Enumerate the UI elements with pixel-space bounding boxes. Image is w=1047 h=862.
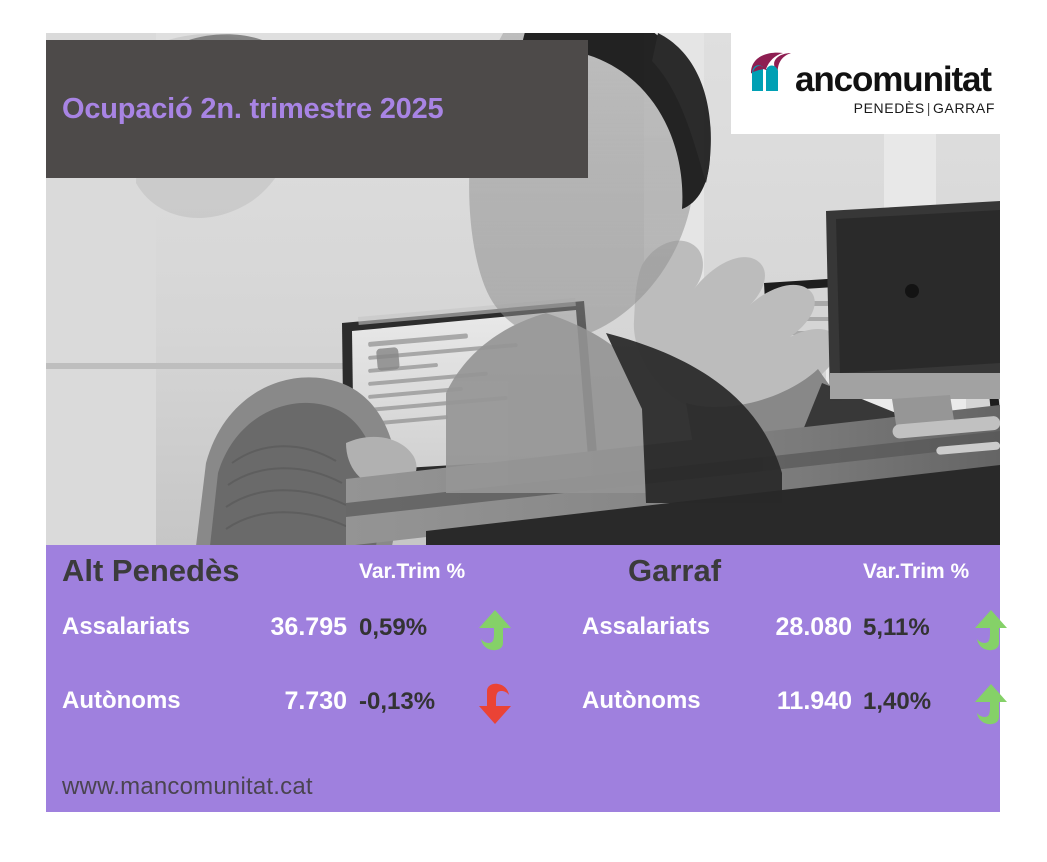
logo-row: ancomunitat: [745, 51, 991, 97]
row-percent: 5,11%: [863, 614, 930, 642]
var-trim-header-garraf: Var.Trim %: [863, 560, 969, 584]
row-value: 28.080: [722, 613, 852, 642]
row-percent: -0,13%: [359, 688, 435, 716]
arrow-down-icon-svg: [478, 683, 512, 725]
page-title: Ocupació 2n. trimestre 2025: [46, 93, 443, 126]
logo-wordmark: ancomunitat: [795, 63, 991, 97]
arrow-up-icon-svg: [974, 609, 1008, 651]
logo-tagline-right: GARRAF: [933, 100, 995, 116]
row-value: 11.940: [722, 687, 852, 716]
title-band: Ocupació 2n. trimestre 2025: [46, 40, 588, 178]
website-url[interactable]: www.mancomunitat.cat: [62, 773, 313, 801]
logo-tagline: PENEDÈS|GARRAF: [854, 100, 1001, 116]
arrow-up-icon: [974, 683, 1008, 725]
arrow-up-icon: [974, 609, 1008, 651]
row-label: Autònoms: [62, 687, 181, 715]
table-row: Assalariats 28.080 5,11%: [582, 613, 997, 653]
logo-tagline-left: PENEDÈS: [854, 100, 925, 116]
region-garraf: Garraf Var.Trim % Assalariats 28.080 5,1…: [566, 545, 1000, 745]
table-row: Autònoms 11.940 1,40%: [582, 687, 997, 727]
arrow-up-icon-svg: [478, 609, 512, 651]
arrow-up-icon: [478, 609, 512, 651]
stats-panel-inner: Alt Penedès Var.Trim % Assalariats 36.79…: [46, 545, 1000, 812]
row-value: 36.795: [212, 613, 347, 642]
table-row: Autònoms 7.730 -0,13%: [62, 687, 552, 727]
row-label: Assalariats: [582, 613, 710, 641]
row-label: Assalariats: [62, 613, 190, 641]
infographic-poster: Ocupació 2n. trimestre 2025 ancomunitat …: [0, 0, 1047, 862]
logo-tagline-separator: |: [925, 100, 933, 116]
row-percent: 1,40%: [863, 688, 931, 716]
row-label: Autònoms: [582, 687, 701, 715]
table-row: Assalariats 36.795 0,59%: [62, 613, 552, 653]
arrow-up-icon-svg: [974, 683, 1008, 725]
region-title-garraf: Garraf: [628, 553, 721, 589]
brand-logo[interactable]: ancomunitat PENEDÈS|GARRAF: [731, 33, 1001, 134]
row-percent: 0,59%: [359, 614, 427, 642]
region-title-alt-penedes: Alt Penedès: [62, 553, 239, 589]
arrow-down-icon: [478, 683, 512, 725]
row-value: 7.730: [212, 687, 347, 716]
var-trim-header-alt-penedes: Var.Trim %: [359, 560, 465, 584]
mancomunitat-m-icon: [745, 51, 797, 97]
region-alt-penedes: Alt Penedès Var.Trim % Assalariats 36.79…: [46, 545, 566, 745]
stats-panel: Alt Penedès Var.Trim % Assalariats 36.79…: [46, 545, 1000, 812]
